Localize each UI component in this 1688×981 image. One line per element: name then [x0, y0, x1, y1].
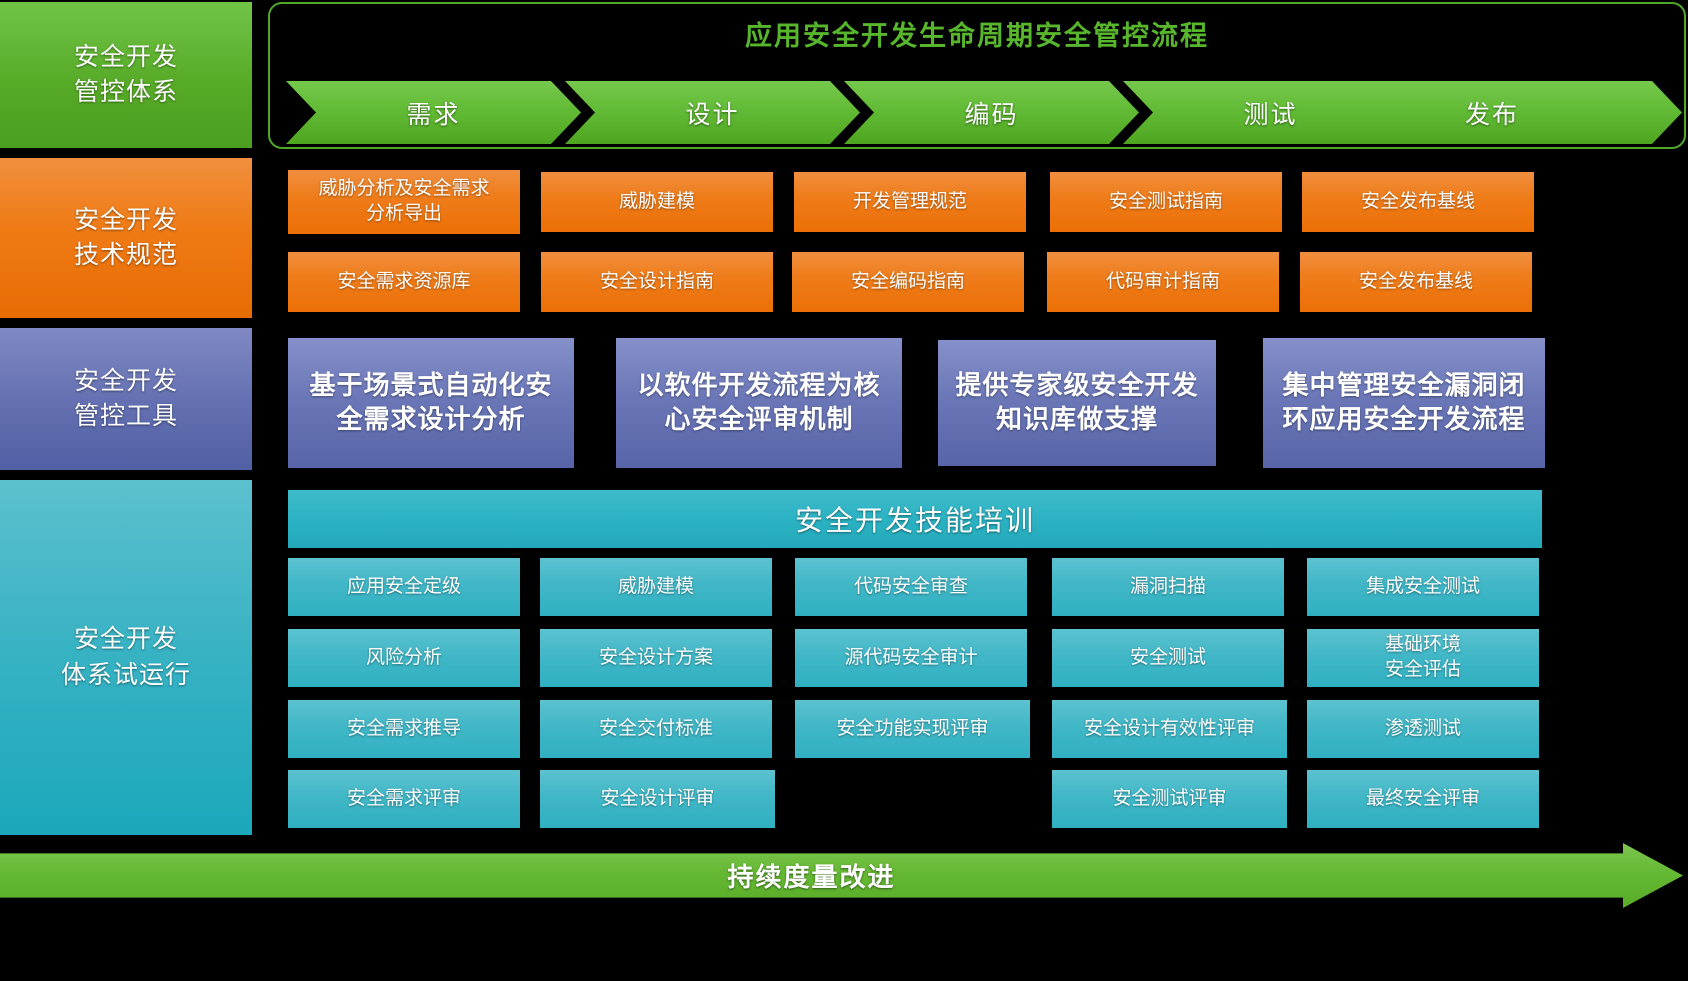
training-box-vulnerability-scanning[interactable]: 漏洞扫描: [1052, 558, 1284, 616]
diagram-canvas: 安全开发 管控体系 安全开发 技术规范 安全开发 管控工具 安全开发 体系试运行…: [0, 0, 1688, 981]
training-box-design-effectiveness-review[interactable]: 安全设计有效性评审: [1052, 700, 1287, 758]
band-label-technical-standards: 安全开发 技术规范: [0, 158, 252, 318]
training-box-penetration-testing[interactable]: 渗透测试: [1307, 700, 1539, 758]
training-box-security-testing-review[interactable]: 安全测试评审: [1052, 770, 1287, 828]
phase-chevron-release[interactable]: 发布: [1302, 81, 1682, 144]
training-box-threat-modeling[interactable]: 威胁建模: [540, 558, 772, 616]
continuous-improvement-arrow: 持续度量改进: [0, 843, 1683, 908]
tool-box-scenario-automated-requirement-design[interactable]: 基于场景式自动化安 全需求设计分析: [288, 338, 574, 468]
training-box-risk-analysis[interactable]: 风险分析: [288, 629, 520, 687]
training-box-security-testing[interactable]: 安全测试: [1052, 629, 1284, 687]
training-box-app-security-grading[interactable]: 应用安全定级: [288, 558, 520, 616]
phase-chevron-coding[interactable]: 编码: [844, 81, 1139, 144]
standard-box-development-management-spec[interactable]: 开发管理规范: [794, 172, 1026, 232]
band-label-system-trial-run: 安全开发 体系试运行: [0, 480, 252, 835]
training-box-source-code-security-audit[interactable]: 源代码安全审计: [795, 629, 1027, 687]
training-box-security-requirement-derivation[interactable]: 安全需求推导: [288, 700, 520, 758]
standard-box-security-testing-guide[interactable]: 安全测试指南: [1050, 172, 1282, 232]
standard-box-code-audit-guide[interactable]: 代码审计指南: [1047, 252, 1279, 312]
training-banner: 安全开发技能培训: [288, 490, 1542, 548]
training-box-security-requirement-review[interactable]: 安全需求评审: [288, 770, 520, 828]
standard-box-threat-modeling[interactable]: 威胁建模: [541, 172, 773, 232]
standard-box-secure-release-baseline-2[interactable]: 安全发布基线: [1300, 252, 1532, 312]
standard-box-secure-coding-guide[interactable]: 安全编码指南: [792, 252, 1024, 312]
continuous-improvement-label: 持续度量改进: [0, 857, 1623, 894]
training-box-security-function-implementation-review[interactable]: 安全功能实现评审: [795, 700, 1030, 758]
tool-box-centralized-vulnerability-management[interactable]: 集中管理安全漏洞闭 环应用安全开发流程: [1263, 338, 1545, 468]
training-box-integrated-security-testing[interactable]: 集成安全测试: [1307, 558, 1539, 616]
tool-box-sdlc-centric-security-review[interactable]: 以软件开发流程为核 心安全评审机制: [616, 338, 902, 468]
standard-box-threat-and-requirement-analysis[interactable]: 威胁分析及安全需求 分析导出: [288, 170, 520, 234]
standard-box-security-requirement-repository[interactable]: 安全需求资源库: [288, 252, 520, 312]
page-title: 应用安全开发生命周期安全管控流程: [270, 14, 1684, 53]
tool-box-expert-knowledge-base[interactable]: 提供专家级安全开发 知识库做支撑: [938, 340, 1216, 466]
standard-box-secure-design-guide[interactable]: 安全设计指南: [541, 252, 773, 312]
lifecycle-process-panel: 应用安全开发生命周期安全管控流程 需求 设计 编码 测试 发布: [268, 2, 1686, 149]
standard-box-secure-release-baseline-1[interactable]: 安全发布基线: [1302, 172, 1534, 232]
phase-chevron-design[interactable]: 设计: [565, 81, 860, 144]
training-box-secure-design-scheme[interactable]: 安全设计方案: [540, 629, 772, 687]
training-box-baseline-environment-assessment[interactable]: 基础环境 安全评估: [1307, 629, 1539, 687]
band-label-governance-system: 安全开发 管控体系: [0, 2, 252, 148]
training-box-secure-delivery-standard[interactable]: 安全交付标准: [540, 700, 772, 758]
band-label-management-tools: 安全开发 管控工具: [0, 328, 252, 470]
training-box-final-security-review[interactable]: 最终安全评审: [1307, 770, 1539, 828]
training-box-secure-design-review[interactable]: 安全设计评审: [540, 770, 775, 828]
training-box-code-security-review[interactable]: 代码安全审查: [795, 558, 1027, 616]
phase-chevron-requirements[interactable]: 需求: [286, 81, 581, 144]
